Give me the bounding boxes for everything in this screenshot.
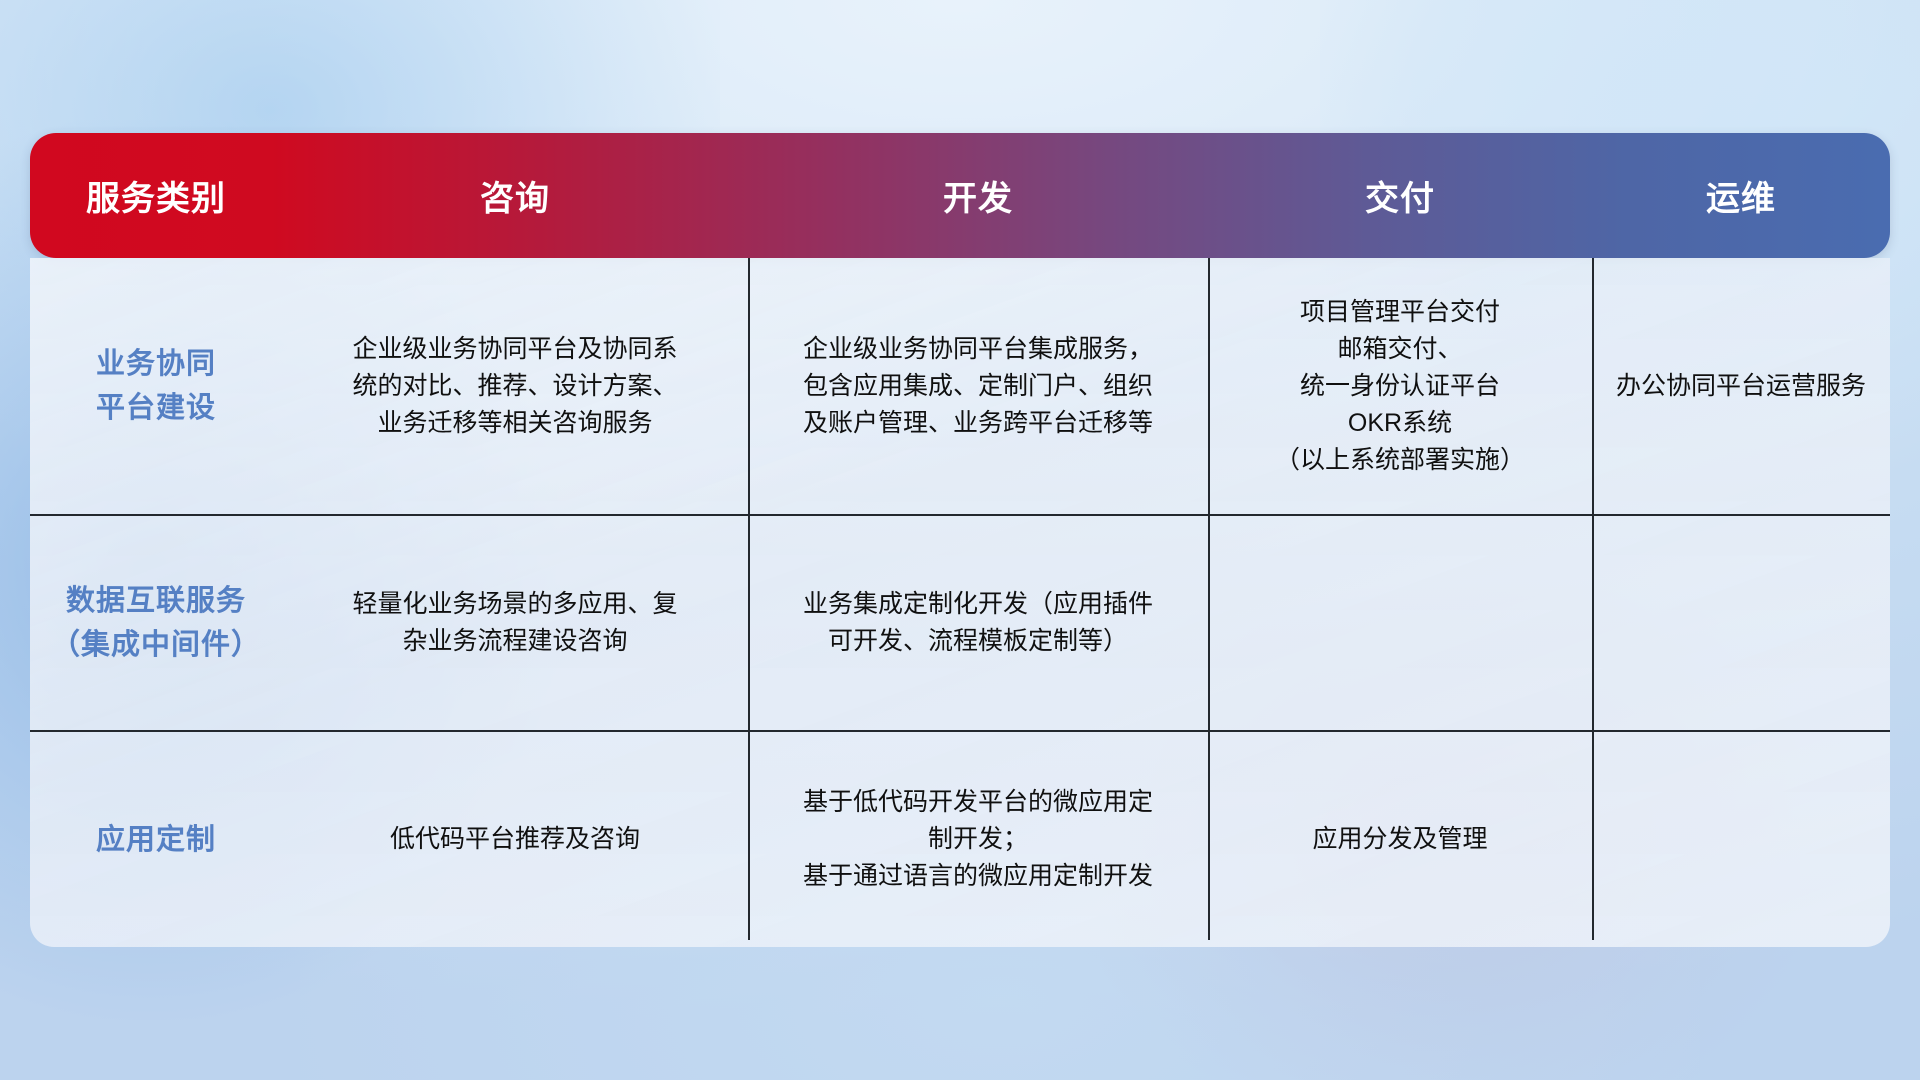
cell-category: 业务协同 平台建设 bbox=[30, 342, 282, 430]
column-header-consulting: 咨询 bbox=[282, 171, 748, 220]
cell-category: 应用定制 bbox=[30, 818, 282, 862]
column-separator bbox=[748, 258, 750, 940]
column-separator bbox=[1208, 258, 1210, 940]
cell-development: 业务集成定制化开发（应用插件 可开发、流程模板定制等） bbox=[748, 586, 1208, 660]
column-header-category: 服务类别 bbox=[30, 171, 282, 220]
row-separator bbox=[30, 514, 1890, 516]
cell-category: 数据互联服务 （集成中间件） bbox=[30, 579, 282, 667]
cell-development: 企业级业务协同平台集成服务， 包含应用集成、定制门户、组织 及账户管理、业务跨平… bbox=[748, 331, 1208, 442]
table-header-row: 服务类别 咨询 开发 交付 运维 bbox=[30, 133, 1890, 258]
service-matrix-table: 服务类别 咨询 开发 交付 运维 业务协同 平台建设 企业级业务协同平台及协同系… bbox=[30, 133, 1890, 947]
cell-consulting: 轻量化业务场景的多应用、复 杂业务流程建设咨询 bbox=[282, 586, 748, 660]
column-header-delivery: 交付 bbox=[1208, 171, 1592, 220]
table-row: 数据互联服务 （集成中间件） 轻量化业务场景的多应用、复 杂业务流程建设咨询 业… bbox=[30, 516, 1890, 730]
table-row: 应用定制 低代码平台推荐及咨询 基于低代码开发平台的微应用定 制开发； 基于通过… bbox=[30, 732, 1890, 947]
cell-operations: 办公协同平台运营服务 bbox=[1592, 368, 1890, 405]
cell-development: 基于低代码开发平台的微应用定 制开发； 基于通过语言的微应用定制开发 bbox=[748, 784, 1208, 895]
row-separator bbox=[30, 730, 1890, 732]
table-row: 业务协同 平台建设 企业级业务协同平台及协同系 统的对比、推荐、设计方案、 业务… bbox=[30, 258, 1890, 514]
column-header-operations: 运维 bbox=[1592, 171, 1890, 220]
cell-delivery: 应用分发及管理 bbox=[1208, 821, 1592, 858]
column-separator bbox=[1592, 258, 1594, 940]
cell-consulting: 低代码平台推荐及咨询 bbox=[282, 821, 748, 858]
cell-delivery: 项目管理平台交付 邮箱交付、 统一身份认证平台 OKR系统 （以上系统部署实施） bbox=[1208, 294, 1592, 479]
cell-consulting: 企业级业务协同平台及协同系 统的对比、推荐、设计方案、 业务迁移等相关咨询服务 bbox=[282, 331, 748, 442]
column-header-development: 开发 bbox=[748, 171, 1208, 220]
table-body: 业务协同 平台建设 企业级业务协同平台及协同系 统的对比、推荐、设计方案、 业务… bbox=[30, 258, 1890, 947]
